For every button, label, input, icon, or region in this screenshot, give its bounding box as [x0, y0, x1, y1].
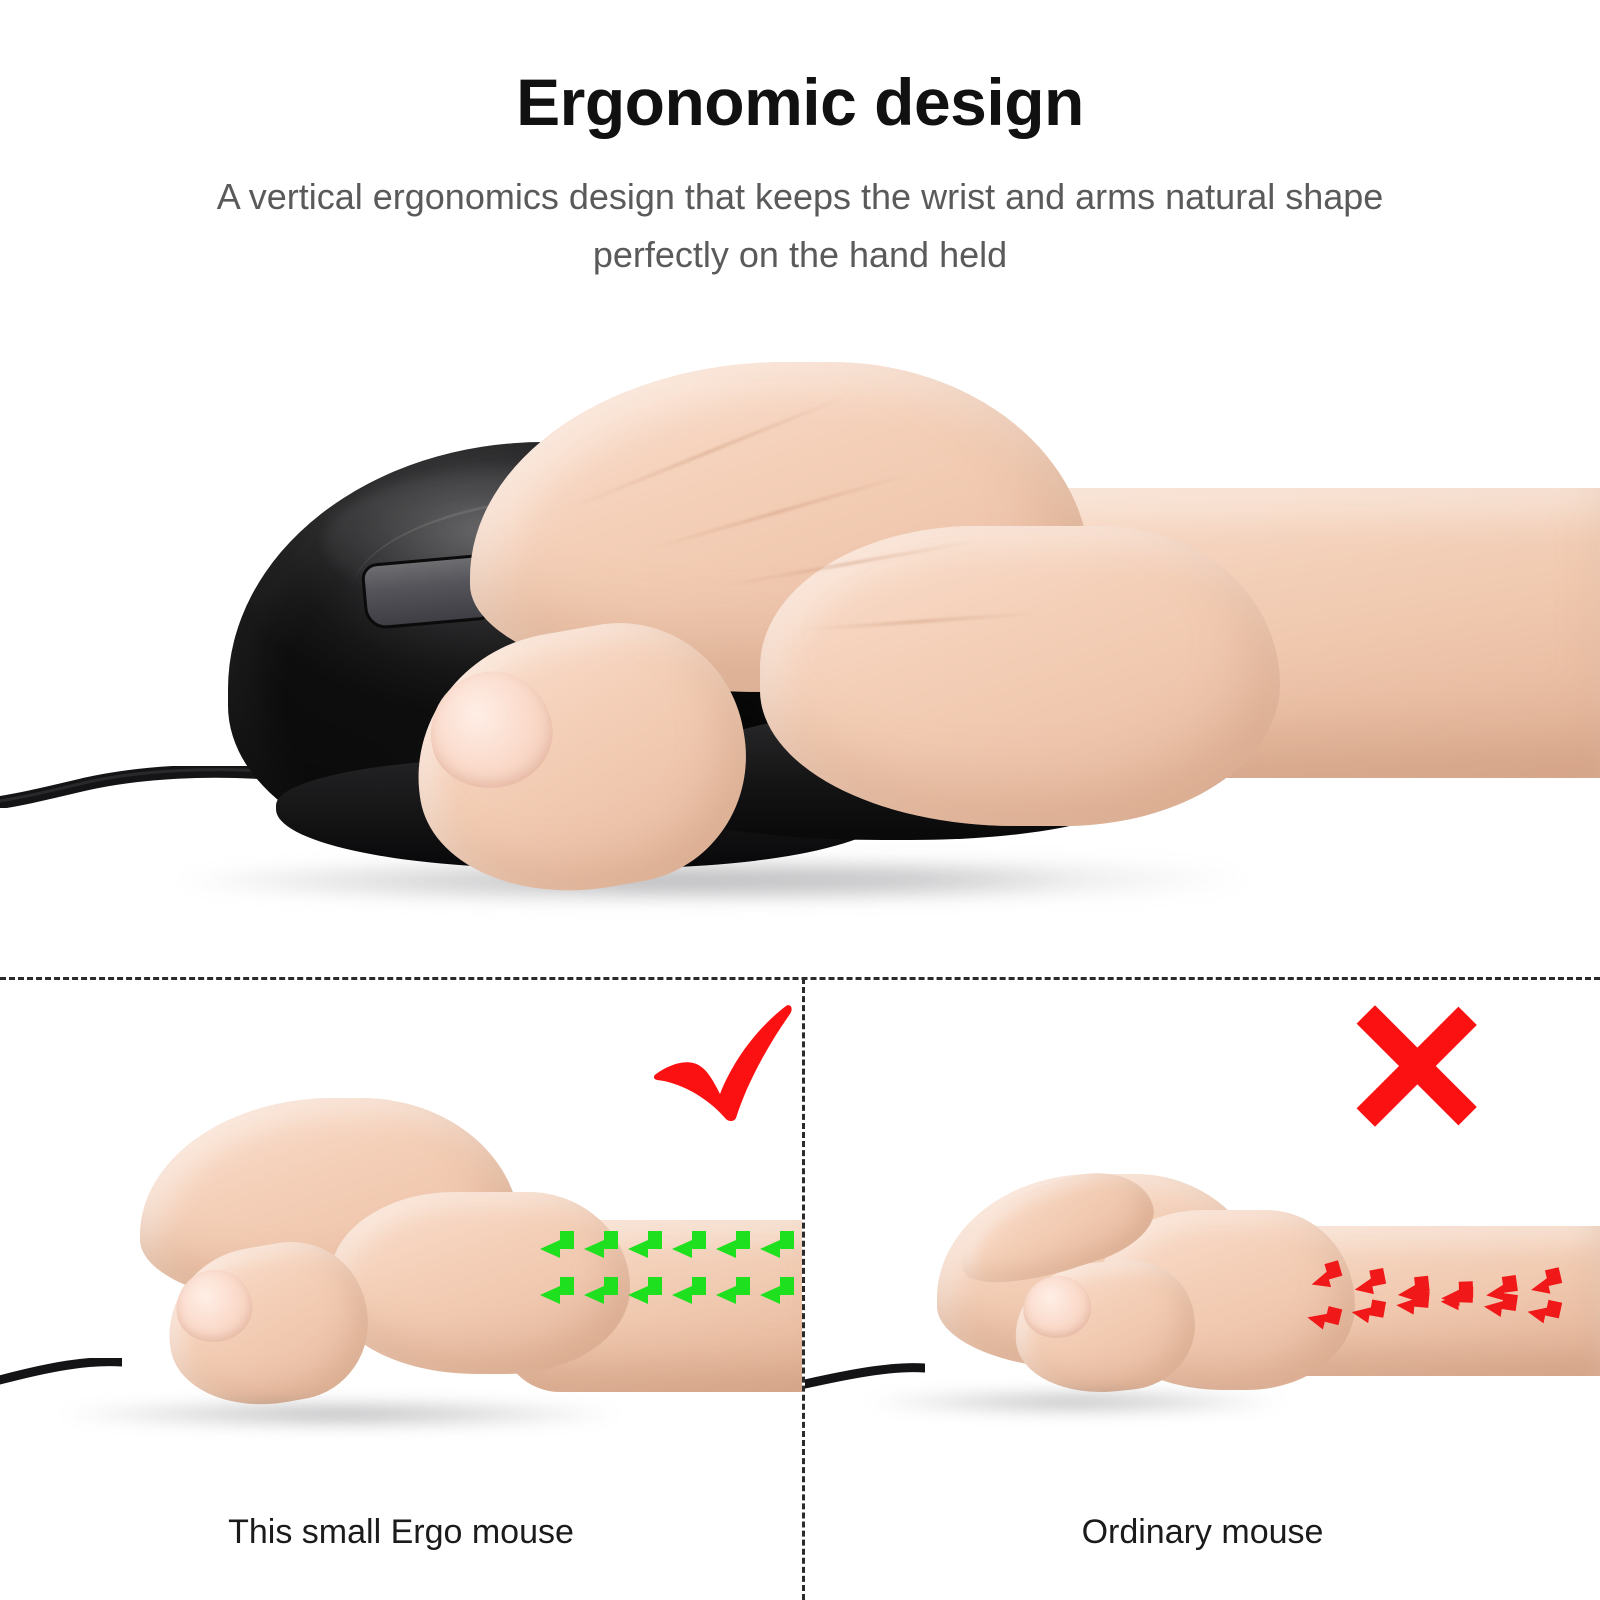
palm — [760, 526, 1280, 826]
ordinary-mouse-shadow — [865, 1388, 1285, 1416]
product-infographic-page: Ergonomic design A vertical ergonomics d… — [0, 0, 1600, 1600]
caption-ordinary: Ordinary mouse — [805, 1513, 1600, 1552]
cross-icon — [1338, 1000, 1494, 1132]
mouse-shadow-small — [60, 1398, 620, 1430]
caption-ergo: This small Ergo mouse — [0, 1513, 802, 1552]
green-flow-arrows — [540, 1218, 800, 1308]
page-subtitle: A vertical ergonomics design that keeps … — [200, 168, 1400, 283]
check-icon — [648, 1000, 798, 1122]
red-pressure-arrows — [1305, 1240, 1585, 1340]
usb-cable-icon-small — [0, 1358, 122, 1388]
hero-product-photo — [0, 300, 1600, 978]
page-title: Ergonomic design — [0, 68, 1600, 137]
hand-on-mouse — [0, 300, 1600, 978]
header: Ergonomic design A vertical ergonomics d… — [0, 0, 1600, 300]
